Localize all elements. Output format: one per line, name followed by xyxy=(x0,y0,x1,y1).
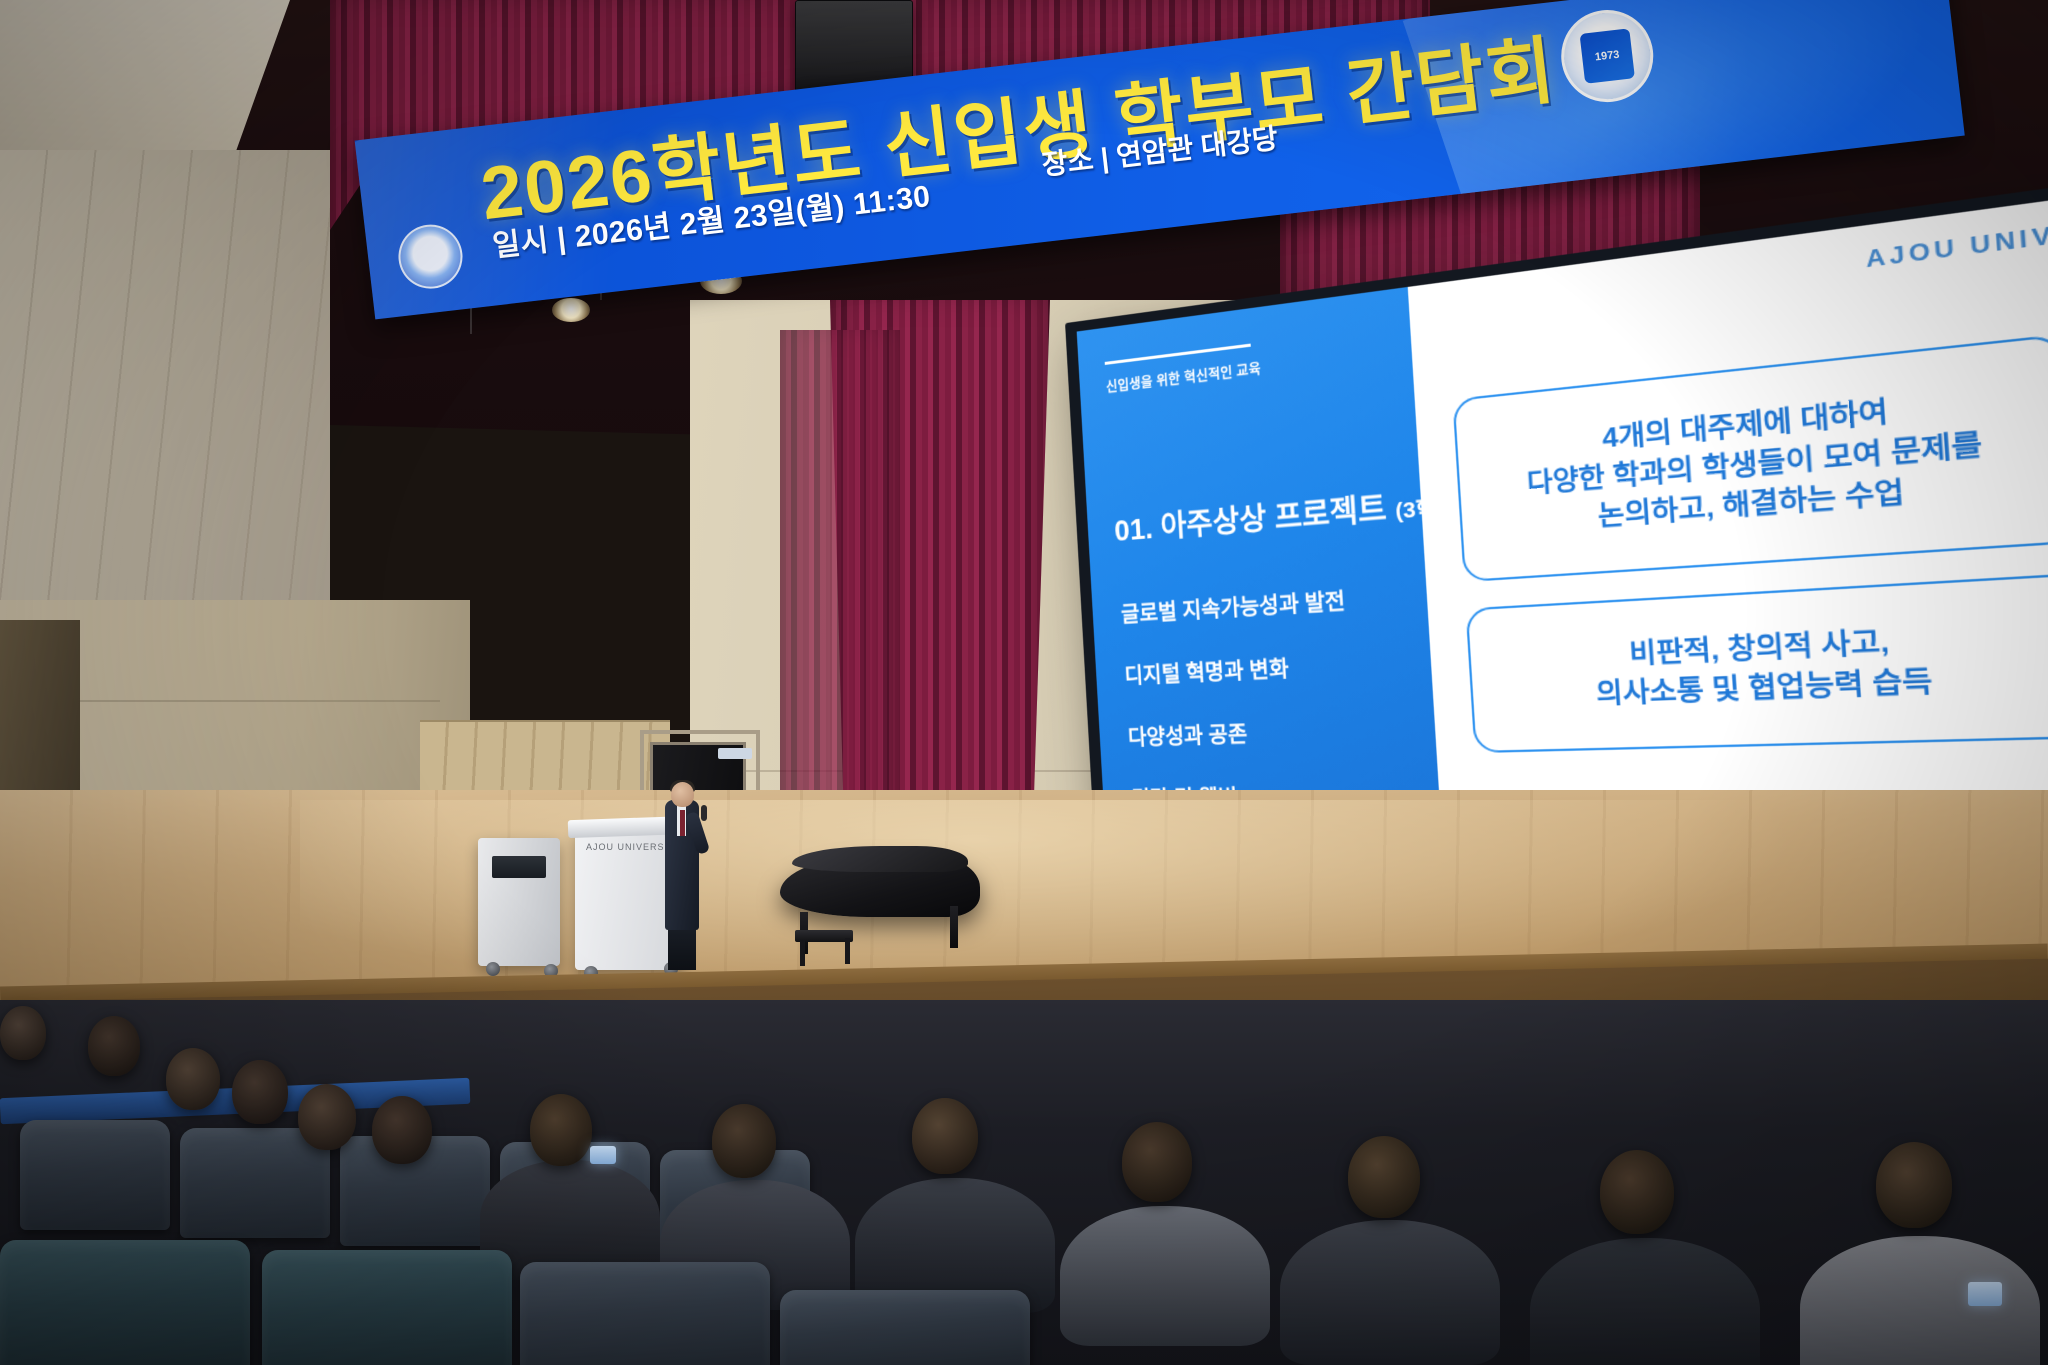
audience-head xyxy=(232,1060,288,1124)
slide-heading: 01. 아주상상 프로젝트 (3학점) xyxy=(1113,477,1467,550)
slide-callout-box: 비판적, 창의적 사고, 의사소통 및 협업능력 습득 xyxy=(1465,573,2048,753)
caster-wheel xyxy=(486,962,500,976)
piano-leg xyxy=(950,906,958,948)
microphone xyxy=(701,805,707,821)
slide-right-panel: AJOU UNIV 4개의 대주제에 대하여 다양한 학과의 학생들이 모여 문… xyxy=(1408,193,2048,874)
audience-head xyxy=(88,1016,140,1076)
slide-callout-box: 4개의 대주제에 대하여 다양한 학과의 학생들이 모여 문제를 논의하고, 해… xyxy=(1452,334,2048,582)
audience-head xyxy=(166,1048,220,1110)
audience-head xyxy=(712,1104,776,1178)
piano-lid xyxy=(792,846,968,872)
audience-head xyxy=(298,1084,356,1150)
slide-bullet: 다양성과 공존 xyxy=(1127,713,1354,751)
seat xyxy=(780,1290,1030,1365)
stage-spotlight xyxy=(552,298,590,322)
piano-bench-leg xyxy=(800,940,805,966)
audience-body xyxy=(1280,1220,1500,1365)
audience-head xyxy=(1348,1136,1420,1218)
audience-head xyxy=(530,1094,592,1166)
phone-screen xyxy=(1968,1282,2002,1306)
audience-head xyxy=(372,1096,432,1164)
console-display xyxy=(492,856,546,878)
presenter-tie xyxy=(680,810,685,836)
door-sign xyxy=(718,748,752,759)
seat xyxy=(20,1120,170,1230)
slide-brandmark: AJOU UNIV xyxy=(1865,222,2048,274)
audience-body xyxy=(1800,1236,2040,1365)
slide-heading-title: 아주상상 프로젝트 xyxy=(1160,492,1388,544)
seat xyxy=(180,1128,330,1238)
seat xyxy=(262,1250,512,1365)
slide-kicker: 신입생을 위한 혁신적인 교육 xyxy=(1105,342,1381,395)
phone-screen xyxy=(590,1146,616,1164)
audience-head xyxy=(1876,1142,1952,1228)
slide-bullet: 글로벌 지속가능성과 발전 xyxy=(1120,583,1346,628)
presenter-head xyxy=(671,782,694,807)
seat xyxy=(520,1262,770,1365)
auditorium-photo: 2026학년도 신입생 학부모 간담회 일시 | 2026년 2월 23일(월)… xyxy=(0,0,2048,1365)
piano-bench-leg xyxy=(845,938,850,964)
audience-body xyxy=(1060,1206,1270,1346)
audience-head xyxy=(912,1098,978,1174)
ajou-logo-mark: 1973 xyxy=(1580,28,1635,83)
audience-head xyxy=(1122,1122,1192,1202)
ajou-seal-icon xyxy=(395,221,466,292)
audience-head xyxy=(1600,1150,1674,1234)
audience-body xyxy=(1530,1238,1760,1365)
slide-left-panel: 신입생을 위한 혁신적인 교육 01. 아주상상 프로젝트 (3학점) 글로벌 … xyxy=(1077,287,1444,872)
slide-bullet: 디지털 혁명과 변화 xyxy=(1124,648,1350,689)
audience-head xyxy=(0,1006,46,1060)
seat xyxy=(0,1240,250,1365)
slide-heading-number: 01. xyxy=(1114,513,1154,548)
